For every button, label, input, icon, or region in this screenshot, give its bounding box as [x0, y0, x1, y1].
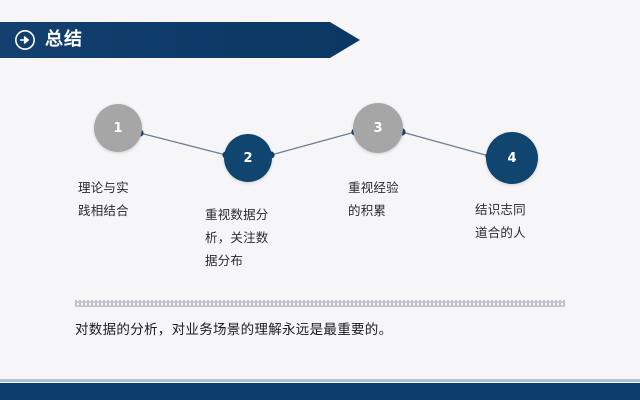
milestone-node-2[interactable]: 2: [224, 134, 272, 182]
milestone-label-2: 重视数据分 析，关注数 据分布: [205, 203, 269, 272]
milestone-label-3: 重视经验 的积累: [348, 176, 399, 222]
header-banner: 总结: [0, 22, 360, 58]
page-title: 总结: [45, 31, 83, 49]
milestone-node-4[interactable]: 4: [486, 132, 538, 184]
slide-canvas: 总结 1 理论与实 践相结合 2 重视数据分 析，关注数 据分布 3 重视经验 …: [0, 0, 640, 400]
milestone-number-1: 1: [113, 121, 122, 136]
milestone-label-1: 理论与实 践相结合: [78, 176, 129, 222]
milestone-node-3[interactable]: 3: [353, 103, 403, 153]
milestone-node-1[interactable]: 1: [94, 104, 142, 152]
milestone-number-2: 2: [243, 151, 252, 166]
bottom-bar: [0, 383, 640, 400]
hatched-divider: [75, 300, 565, 307]
footer-note: 对数据的分析，对业务场景的理解永远是最重要的。: [75, 318, 392, 338]
circle-arrow-right-icon: [14, 29, 36, 51]
connector-1-2: [140, 133, 226, 155]
bottom-accent-line: [0, 379, 640, 382]
connector-2-3: [271, 132, 355, 155]
milestone-number-3: 3: [373, 121, 382, 136]
milestone-label-4: 结识志同 道合的人: [475, 198, 526, 244]
milestone-number-4: 4: [507, 151, 516, 166]
connector-3-4: [402, 132, 489, 156]
